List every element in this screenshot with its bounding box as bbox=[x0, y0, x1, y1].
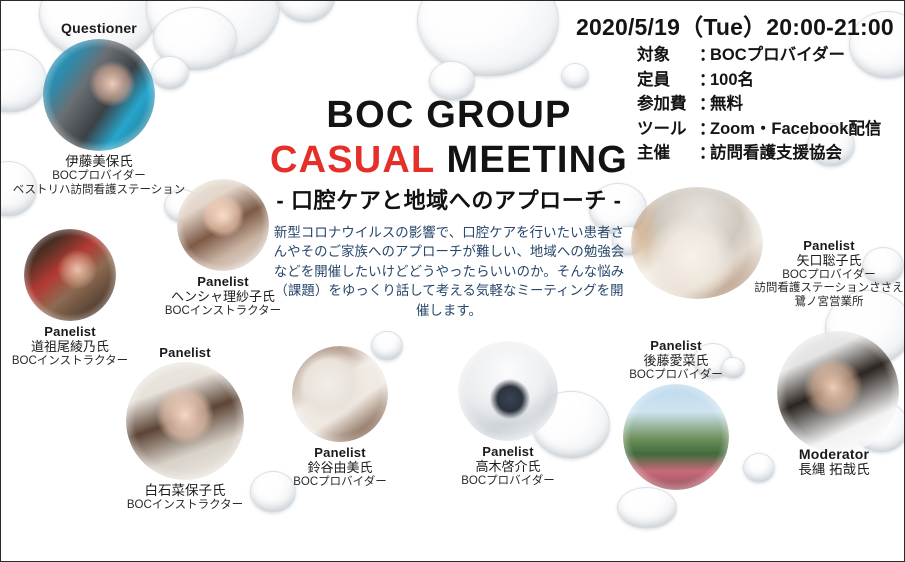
title-subtitle: - 口腔ケアと地域へのアプローチ - bbox=[269, 185, 629, 217]
person-photo-panelist-8 bbox=[631, 187, 763, 299]
person-card-moderator: Moderator 長縄 拓哉氏 bbox=[763, 447, 905, 478]
info-separator: ： bbox=[699, 68, 710, 93]
person-role: Panelist bbox=[753, 239, 905, 253]
info-value: 無料 bbox=[710, 92, 743, 117]
person-photo bbox=[43, 39, 155, 151]
person-name: 白石菜保子氏 bbox=[105, 483, 265, 499]
info-value: 100名 bbox=[710, 68, 754, 93]
info-separator: ： bbox=[699, 117, 710, 142]
title-line-2: CASUAL MEETING bbox=[269, 137, 629, 183]
person-name: 後藤愛菜氏 bbox=[597, 353, 755, 368]
person-photo bbox=[292, 346, 388, 442]
person-photo bbox=[623, 384, 729, 490]
person-card-panelist-8: Panelist 矢口聡子氏 BOCプロバイダー 訪問看護ステーションささえ 鷺… bbox=[753, 239, 905, 310]
event-info-table: 対象 ： BOCプロバイダー 定員 ： 100名 参加費 ： 無料 ツール ： … bbox=[637, 43, 881, 166]
person-photo bbox=[126, 362, 244, 480]
info-row-fee: 参加費 ： 無料 bbox=[637, 92, 881, 117]
person-role: Questioner bbox=[1, 21, 197, 36]
bubble-icon bbox=[277, 0, 335, 23]
person-card-panelist-6: Panelist 高木啓介氏 BOCプロバイダー bbox=[433, 341, 583, 488]
bubble-icon bbox=[617, 487, 677, 529]
person-role: Panelist bbox=[597, 339, 755, 353]
person-photo bbox=[24, 229, 116, 321]
info-row-organizer: 主催 ： 訪問看護支援協会 bbox=[637, 141, 881, 166]
title-casual-word: CASUAL bbox=[270, 139, 435, 181]
info-key: ツール bbox=[637, 117, 699, 142]
person-role: Panelist bbox=[0, 325, 145, 339]
poster-canvas: 2020/5/19（Tue）20:00-21:00 対象 ： BOCプロバイダー… bbox=[0, 0, 905, 562]
info-key: 主催 bbox=[637, 141, 699, 166]
info-value: 訪問看護支援協会 bbox=[710, 141, 842, 166]
person-name: 高木啓介氏 bbox=[433, 459, 583, 474]
person-photo bbox=[177, 179, 269, 271]
person-card-questioner: Questioner 伊藤美保氏 BOCプロバイダー ベストリハ訪問看護ステーシ… bbox=[1, 21, 197, 198]
title-line-1: BOC GROUP bbox=[269, 93, 629, 137]
bubble-icon bbox=[561, 63, 589, 89]
person-photo bbox=[458, 341, 558, 441]
info-separator: ： bbox=[699, 141, 710, 166]
event-description: 新型コロナウイルスの影響で、口腔ケアを行いたい患者さんやそのご家族へのアプローチ… bbox=[269, 223, 629, 320]
title-meeting-word: MEETING bbox=[435, 139, 628, 181]
bubble-icon bbox=[417, 0, 559, 77]
event-datetime: 2020/5/19（Tue）20:00-21:00 bbox=[576, 8, 894, 42]
info-key: 対象 bbox=[637, 43, 699, 68]
person-name: 鈴谷由美氏 bbox=[265, 460, 415, 475]
person-org-1: BOCプロバイダー bbox=[753, 269, 905, 283]
person-name: 矢口聡子氏 bbox=[753, 253, 905, 268]
person-org-1: BOCプロバイダー bbox=[265, 476, 415, 490]
info-row-tool: ツール ： Zoom・Facebook配信 bbox=[637, 117, 881, 142]
person-org-3: 鷺ノ宮営業所 bbox=[753, 296, 905, 310]
title-block: BOC GROUP CASUAL MEETING - 口腔ケアと地域へのアプロー… bbox=[269, 93, 629, 320]
person-role: Panelist bbox=[105, 346, 265, 360]
info-row-target: 対象 ： BOCプロバイダー bbox=[637, 43, 881, 68]
info-key: 参加費 bbox=[637, 92, 699, 117]
person-org-1: BOCプロバイダー bbox=[433, 475, 583, 489]
person-card-panelist-4: Panelist 白石菜保子氏 BOCインストラクター bbox=[105, 346, 265, 513]
person-role: Moderator bbox=[763, 447, 905, 462]
person-org-1: BOCプロバイダー bbox=[597, 369, 755, 383]
person-org-1: BOCインストラクター bbox=[105, 499, 265, 513]
person-role: Panelist bbox=[433, 445, 583, 459]
info-separator: ： bbox=[699, 92, 710, 117]
person-name: 伊藤美保氏 bbox=[1, 154, 197, 170]
person-name: 長縄 拓哉氏 bbox=[763, 462, 905, 478]
info-separator: ： bbox=[699, 43, 710, 68]
person-card-panelist-5: Panelist 鈴谷由美氏 BOCプロバイダー bbox=[265, 346, 415, 489]
info-row-capacity: 定員 ： 100名 bbox=[637, 68, 881, 93]
info-key: 定員 bbox=[637, 68, 699, 93]
person-card-panelist-7: Panelist 後藤愛菜氏 BOCプロバイダー bbox=[597, 339, 755, 490]
person-photo-moderator bbox=[777, 331, 899, 453]
info-value: BOCプロバイダー bbox=[710, 43, 845, 68]
person-org-2: 訪問看護ステーションささえ bbox=[753, 282, 905, 296]
person-role: Panelist bbox=[265, 446, 415, 460]
info-value: Zoom・Facebook配信 bbox=[710, 117, 881, 142]
